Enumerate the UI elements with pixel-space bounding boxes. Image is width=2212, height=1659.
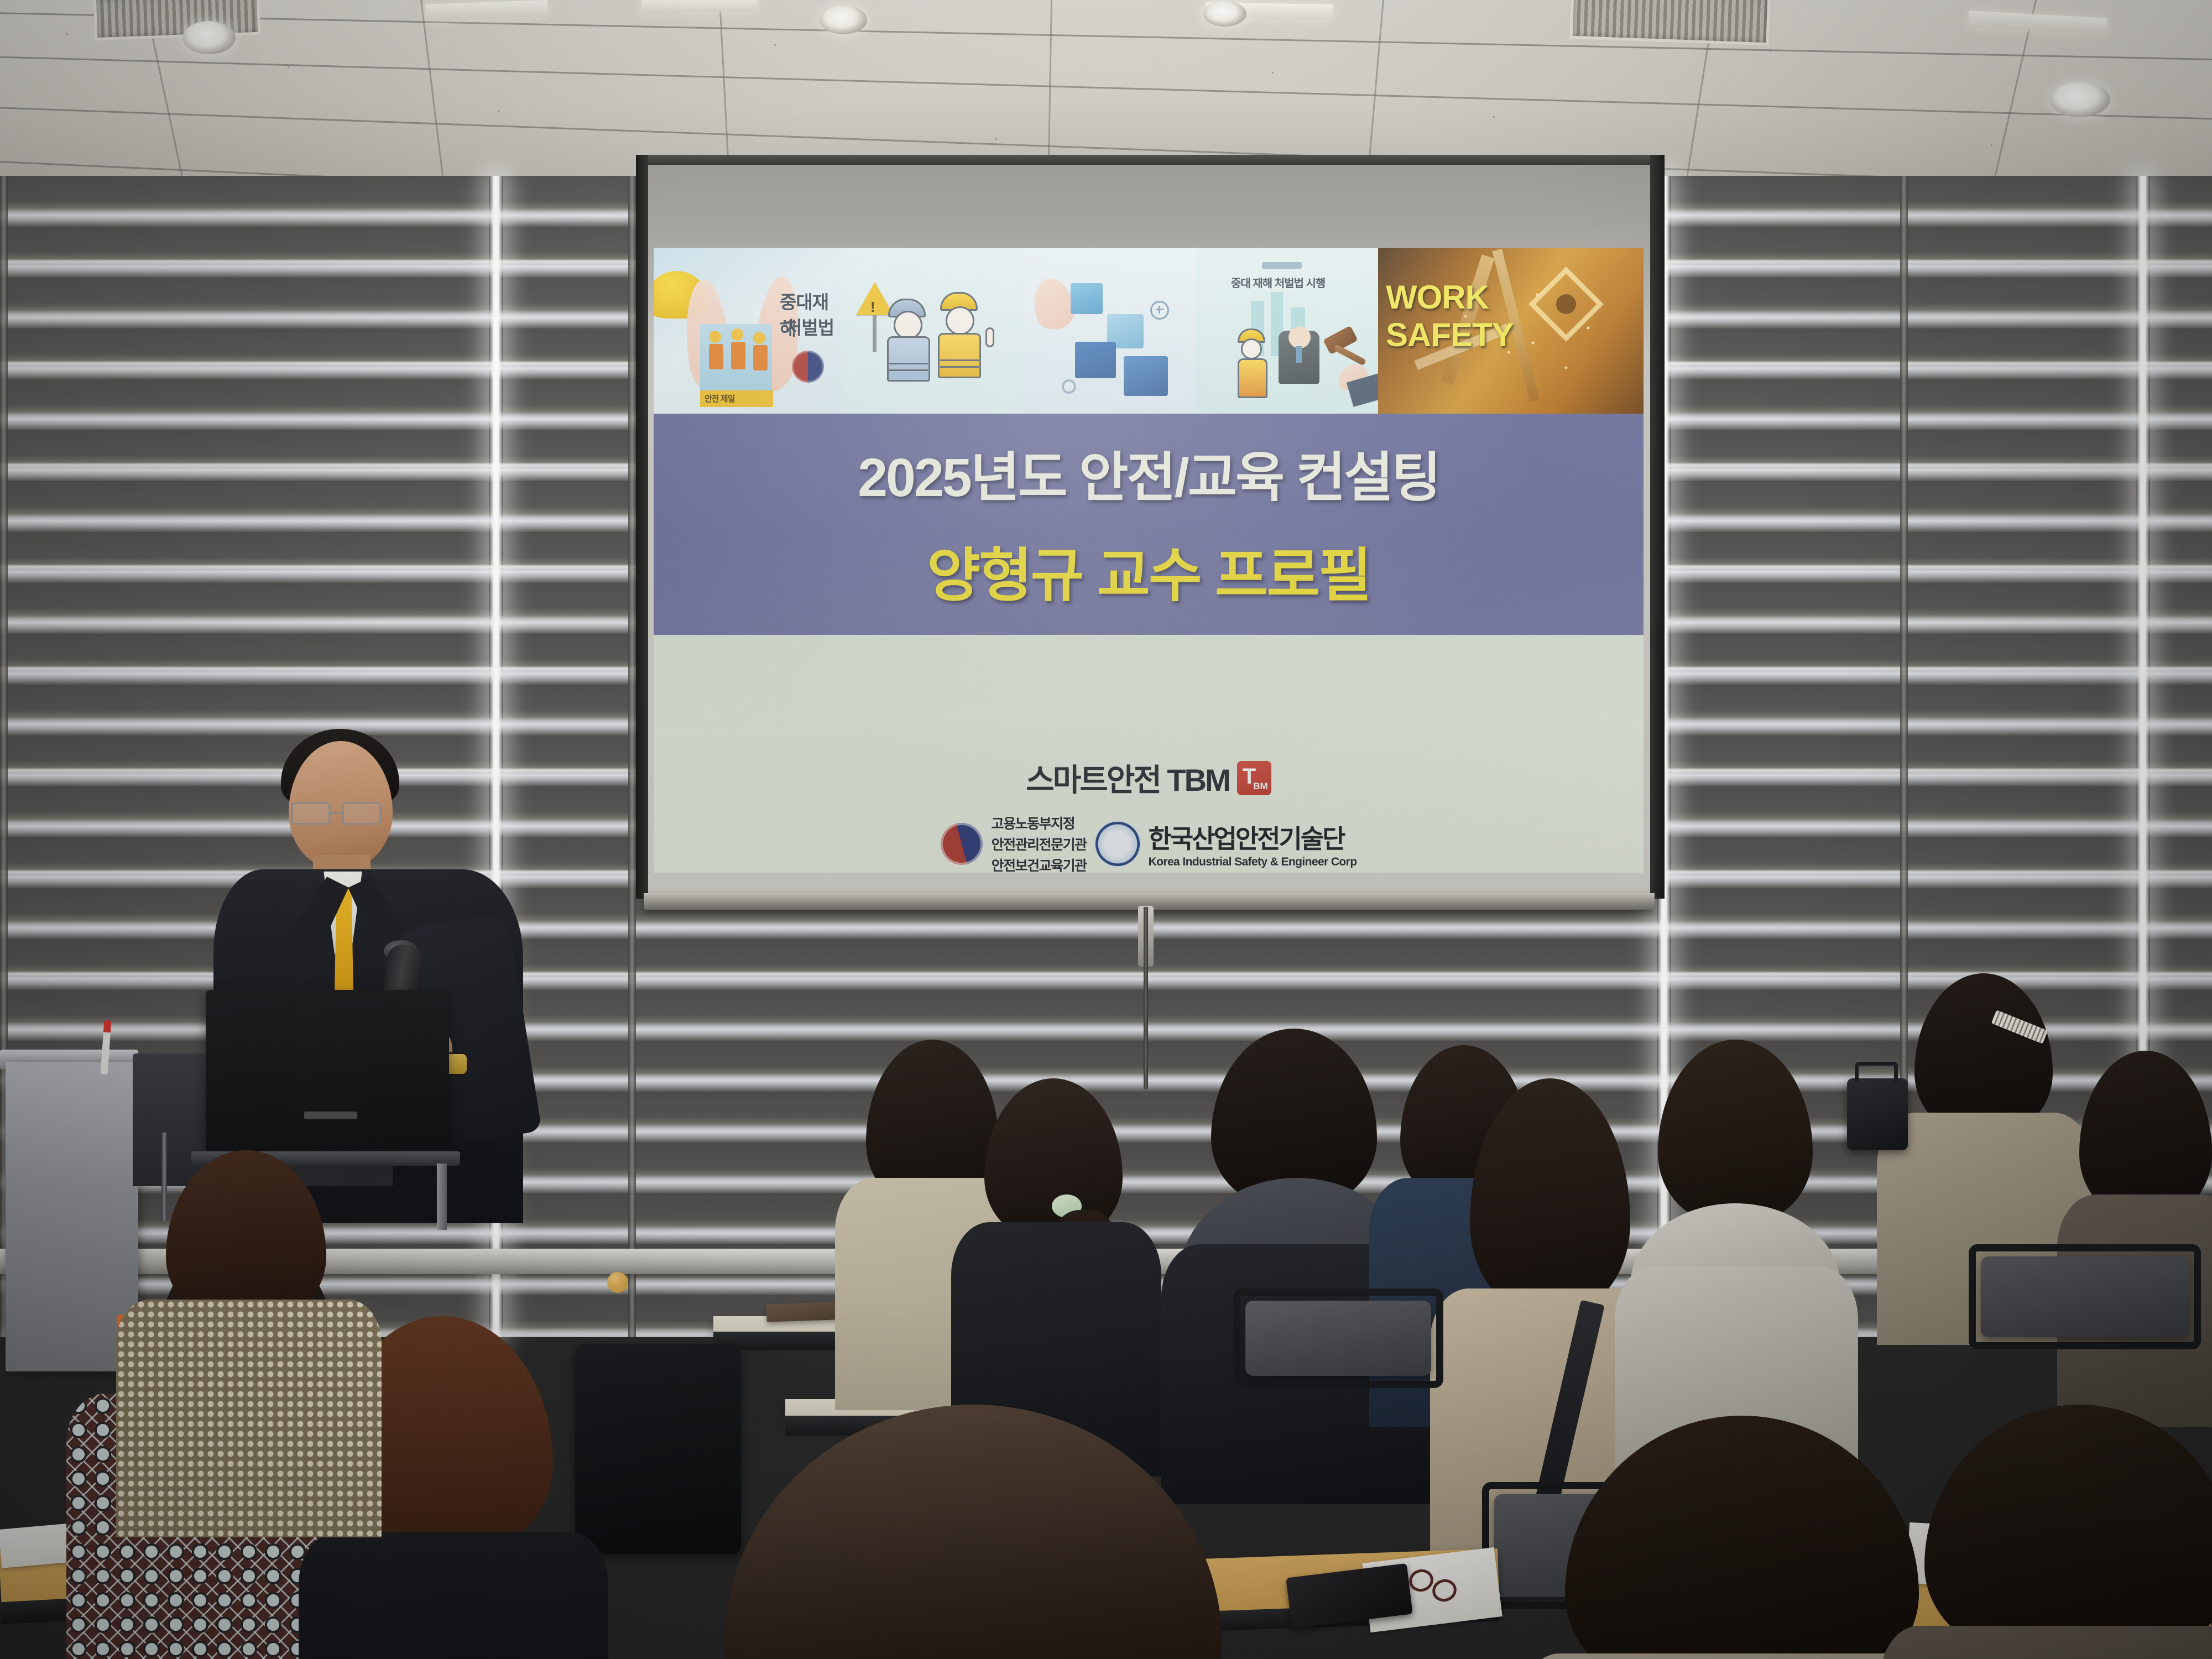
projection-screen: 안전 제일 중대재해 처벌법 ! (636, 155, 1665, 929)
clothing (1880, 1626, 2212, 1659)
banner-panel-3 (1024, 248, 1196, 414)
ball[interactable] (607, 1272, 628, 1293)
tbm-logo-mark-icon (1237, 761, 1271, 795)
hvac-vent-icon (93, 0, 261, 40)
gov-line-1: 고용노동부지정 (992, 813, 1087, 833)
screen-left-edge (636, 155, 648, 899)
downlight-icon (182, 21, 236, 54)
slide-body: 스마트안전 TBM 고용노동부지정 안전관리전문기관 안전보건교육기관 한국산업… (654, 635, 1644, 873)
banner-panel-4: 중대 재해 처벌법 시행 (1196, 248, 1378, 414)
screen-right-edge (1650, 155, 1665, 899)
banner-panel-5: WORK SAFETY (1378, 248, 1644, 414)
gov-line-3: 안전보건교육기관 (992, 855, 1087, 873)
hair (1924, 1405, 2212, 1659)
chair-backrest (1245, 1301, 1431, 1376)
slide-title-line1: 2025년도 안전/교육 컨설팅 (654, 434, 1644, 512)
korea-government-emblem-icon (941, 823, 983, 865)
stand-leg (437, 1164, 447, 1230)
seminar-room-photo: 안전 제일 중대재해 처벌법 ! (0, 0, 2212, 1659)
slide-title-band: 2025년도 안전/교육 컨설팅 양형규 교수 프로필 (654, 414, 1644, 635)
government-designation-text: 고용노동부지정 안전관리전문기관 안전보건교육기관 (992, 813, 1087, 873)
knit-vest (116, 1300, 382, 1537)
banner-panel-2: ! (842, 248, 1024, 414)
mic-stand (161, 1133, 167, 1221)
downlight-icon (1203, 1, 1246, 27)
banner-panel-1: 안전 제일 중대재해 처벌법 (654, 248, 842, 414)
accreditation-logos: 고용노동부지정 안전관리전문기관 안전보건교육기관 한국산업안전기술단 Kore… (654, 813, 1644, 873)
organization-name: 한국산업안전기술단 Korea Industrial Safety & Engi… (1149, 819, 1357, 869)
work-safety-label-line2: SAFETY (1386, 320, 1514, 350)
org-name-english: Korea Industrial Safety & Engineer Corp (1149, 855, 1357, 869)
kisec-seal-icon (1095, 822, 1140, 866)
banner-label-cheobeol: 처벌법 (785, 313, 834, 340)
eyeglasses-icon (291, 802, 331, 825)
eyeglasses-icon (342, 802, 382, 825)
backpack[interactable] (575, 1344, 741, 1554)
brand-logo: 스마트안전 TBM (654, 755, 1644, 800)
brand-logo-text: 스마트안전 TBM (1026, 755, 1229, 800)
camera-device[interactable] (1847, 1078, 1908, 1150)
gov-line-2: 안전관리전문기관 (992, 834, 1087, 854)
chair-backrest (1981, 1256, 2189, 1337)
downlight-icon (2049, 82, 2110, 117)
laptop-logo-icon (304, 1112, 357, 1119)
slide-title-line2: 양형규 교수 프로필 (654, 529, 1644, 613)
work-safety-label-line1: WORK (1386, 282, 1489, 312)
clothing (299, 1532, 608, 1659)
slide-banner-strip: 안전 제일 중대재해 처벌법 ! (654, 248, 1644, 414)
banner-label-siheng: 중대 재해 처벌법 시행 (1231, 274, 1325, 290)
slide-content: 안전 제일 중대재해 처벌법 ! (654, 248, 1644, 873)
laptop[interactable] (206, 990, 449, 1156)
downlight-icon (820, 6, 867, 34)
org-name-korean: 한국산업안전기술단 (1149, 819, 1357, 855)
korea-government-emblem-icon (792, 351, 824, 383)
hvac-vent-icon (1569, 0, 1770, 45)
screen-pull-cord[interactable] (1144, 907, 1148, 1089)
